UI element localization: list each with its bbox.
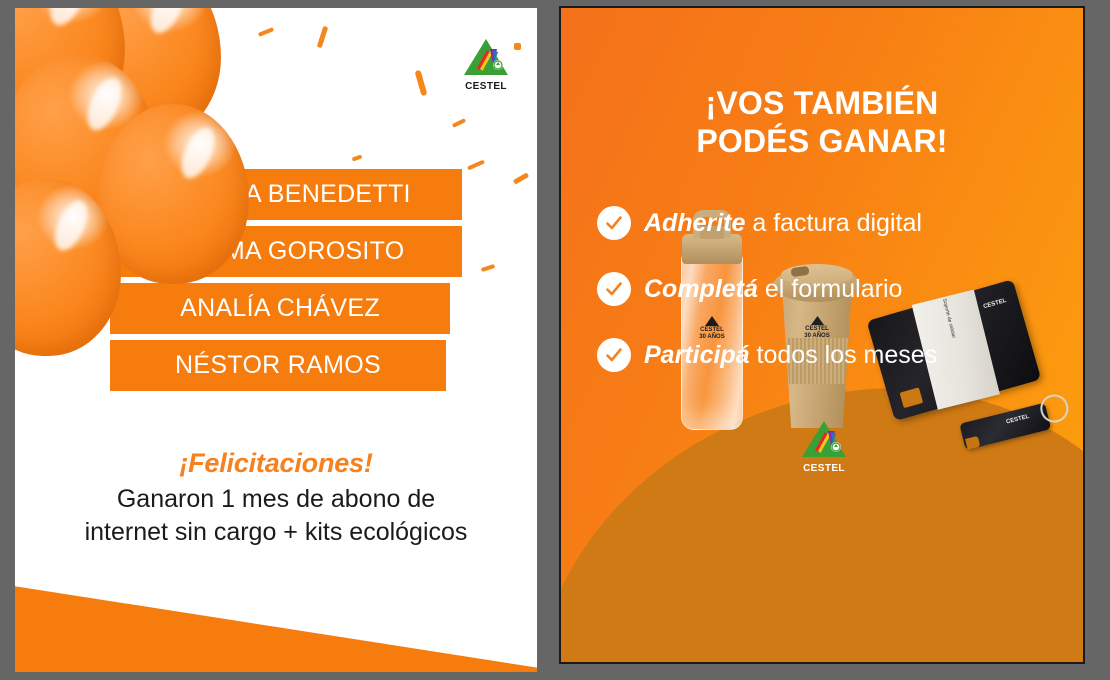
cestel-wordmark: CESTEL [801,464,847,474]
promo-image-canvas: CESTEL VIVIANA BENEDETTI NORMA GOROSITO … [0,0,1110,680]
cestel-triangle-logo: CESTEL [463,38,509,92]
promo-panel: ¡VOS TAMBIÉN PODÉS GANAR! Adherite a fac… [559,6,1085,664]
promo-step-rest: a factura digital [745,209,922,237]
promo-step-rest: el formulario [758,275,903,303]
congratulations-block: ¡Felicitaciones! Ganaron 1 mes de abono … [15,448,537,549]
cestel-triangle-logo: CESTEL [801,420,847,474]
winner-row: NÉSTOR RAMOS [110,340,446,391]
promo-step-keyword: Participá [644,341,750,369]
congrats-title: ¡Felicitaciones! [15,448,537,479]
cestel-wordmark: CESTEL [463,82,509,92]
check-circle-icon [597,272,631,306]
promo-step-rest: todos los meses [750,341,938,369]
cestel-triangle-icon [463,38,509,76]
congrats-line-1: Ganaron 1 mes de abono de [15,483,537,516]
winner-row: ANALÍA CHÁVEZ [110,283,450,334]
congrats-line-2: internet sin cargo + kits ecológicos [15,516,537,549]
promo-step-keyword: Completá [644,275,758,303]
check-circle-icon [597,338,631,372]
promo-title-line-2: PODÉS GANAR! [561,122,1083,160]
check-circle-icon [597,206,631,240]
promo-steps-list: Adherite a factura digital Completá el f… [597,206,1067,404]
promo-step: Adherite a factura digital [597,206,1067,240]
promo-title: ¡VOS TAMBIÉN PODÉS GANAR! [561,84,1083,161]
promo-step: Completá el formulario [597,272,1067,306]
promo-step: Participá todos los meses [597,338,1067,372]
cestel-triangle-icon [801,420,847,458]
promo-step-keyword: Adherite [644,209,745,237]
opener-body [959,403,1051,450]
winners-panel: CESTEL VIVIANA BENEDETTI NORMA GOROSITO … [15,8,537,672]
orange-wedge-shape [15,562,537,672]
opener-cutout [965,436,980,450]
promo-title-line-1: ¡VOS TAMBIÉN [561,84,1083,122]
